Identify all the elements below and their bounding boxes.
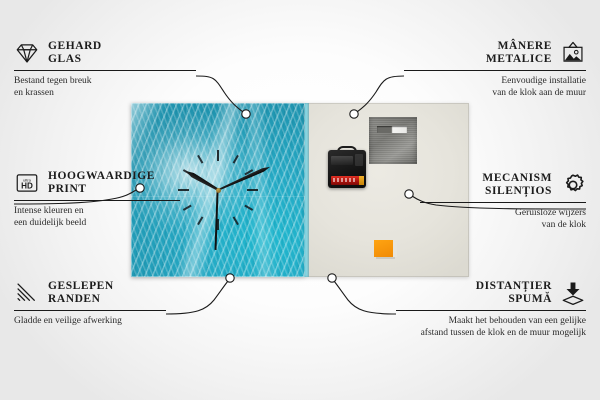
feature-title-line2: PRINT (48, 183, 155, 196)
feature-title-line1: DISTANȚIER (476, 280, 552, 293)
feature-divider (14, 310, 166, 311)
metal-hanger-plate (369, 117, 417, 164)
feature-divider (396, 310, 586, 311)
feature-tempered-glass: GEHARD GLAS Bestand tegen breuk en krass… (14, 40, 196, 99)
battery-terminal (359, 176, 364, 185)
feature-high-quality-print: ultra HD HOOGWAARDIGE PRINT Intense kleu… (14, 170, 180, 229)
feature-title-line1: HOOGWAARDIGE (48, 170, 155, 183)
clock-movement (328, 150, 366, 188)
feature-ground-edges: GESLEPEN RANDEN Gladde en veilige afwerk… (14, 280, 166, 327)
feature-metal-handles: MÂNERE METALICE Eenvoudige installatie v… (404, 40, 586, 99)
download-stack-icon (560, 280, 586, 306)
feature-title-line1: MÂNERE (486, 40, 552, 53)
foam-spacer-shadow (393, 242, 397, 257)
movement-label (331, 156, 353, 165)
panel-edge (305, 103, 309, 277)
feature-title-line2: SILENȚIOS (482, 185, 552, 198)
ultra-hd-icon: ultra HD (14, 170, 40, 196)
feature-title-line2: METALICE (486, 53, 552, 66)
feature-divider (14, 70, 196, 71)
feature-desc-line1: Maakt het behouden van een gelijke (396, 315, 586, 327)
feature-divider (404, 70, 586, 71)
feature-desc-line1: Intense kleuren en (14, 205, 180, 217)
feature-header: ultra HD HOOGWAARDIGE PRINT (14, 170, 180, 196)
picture-frame-icon (560, 40, 586, 66)
beveled-edge-icon (14, 280, 40, 306)
feature-desc-line1: Geruisloze wijzers (420, 207, 586, 219)
feature-title-line1: MECANISM (482, 172, 552, 185)
feature-title-line2: SPUMĂ (476, 293, 552, 306)
diamond-icon (14, 40, 40, 66)
movement-body (328, 150, 366, 188)
product-image (131, 103, 469, 277)
battery-print (333, 178, 355, 182)
feature-desc-line2: afstand tussen de klok en de muur mogeli… (396, 327, 586, 339)
feature-title-line2: GLAS (48, 53, 102, 66)
feature-header: MÂNERE METALICE (404, 40, 586, 66)
feature-title-line2: RANDEN (48, 293, 114, 306)
foam-spacer-pad (374, 240, 393, 257)
feature-desc-line2: en krassen (14, 87, 196, 99)
feature-header: GEHARD GLAS (14, 40, 196, 66)
feature-desc-line1: Bestand tegen breuk (14, 75, 196, 87)
feature-title-line1: GEHARD (48, 40, 102, 53)
feature-desc-line2: een duidelijk beeld (14, 217, 180, 229)
hanger-slot (377, 126, 407, 133)
feature-header: GESLEPEN RANDEN (14, 280, 166, 306)
feature-divider (420, 202, 586, 203)
infographic-canvas: GEHARD GLAS Bestand tegen breuk en krass… (0, 0, 600, 400)
svg-text:HD: HD (21, 182, 33, 191)
feature-desc-line2: van de klok (420, 219, 586, 231)
feature-silent-mechanism: MECANISM SILENȚIOS Geruisloze wijzers va… (420, 172, 586, 231)
feature-divider (14, 200, 180, 201)
feature-desc-line1: Gladde en veilige afwerking (14, 315, 166, 327)
clock-center-pin (216, 188, 221, 193)
feature-title-line1: GESLEPEN (48, 280, 114, 293)
feature-desc-line2: van de klok aan de muur (404, 87, 586, 99)
feature-desc-line1: Eenvoudige installatie (404, 75, 586, 87)
movement-label-secondary (355, 154, 363, 166)
gear-icon (560, 172, 586, 198)
battery (331, 176, 363, 185)
feature-header: MECANISM SILENȚIOS (420, 172, 586, 198)
feature-header: DISTANȚIER SPUMĂ (396, 280, 586, 306)
feature-foam-spacer: DISTANȚIER SPUMĂ Maakt het behouden van … (396, 280, 586, 339)
